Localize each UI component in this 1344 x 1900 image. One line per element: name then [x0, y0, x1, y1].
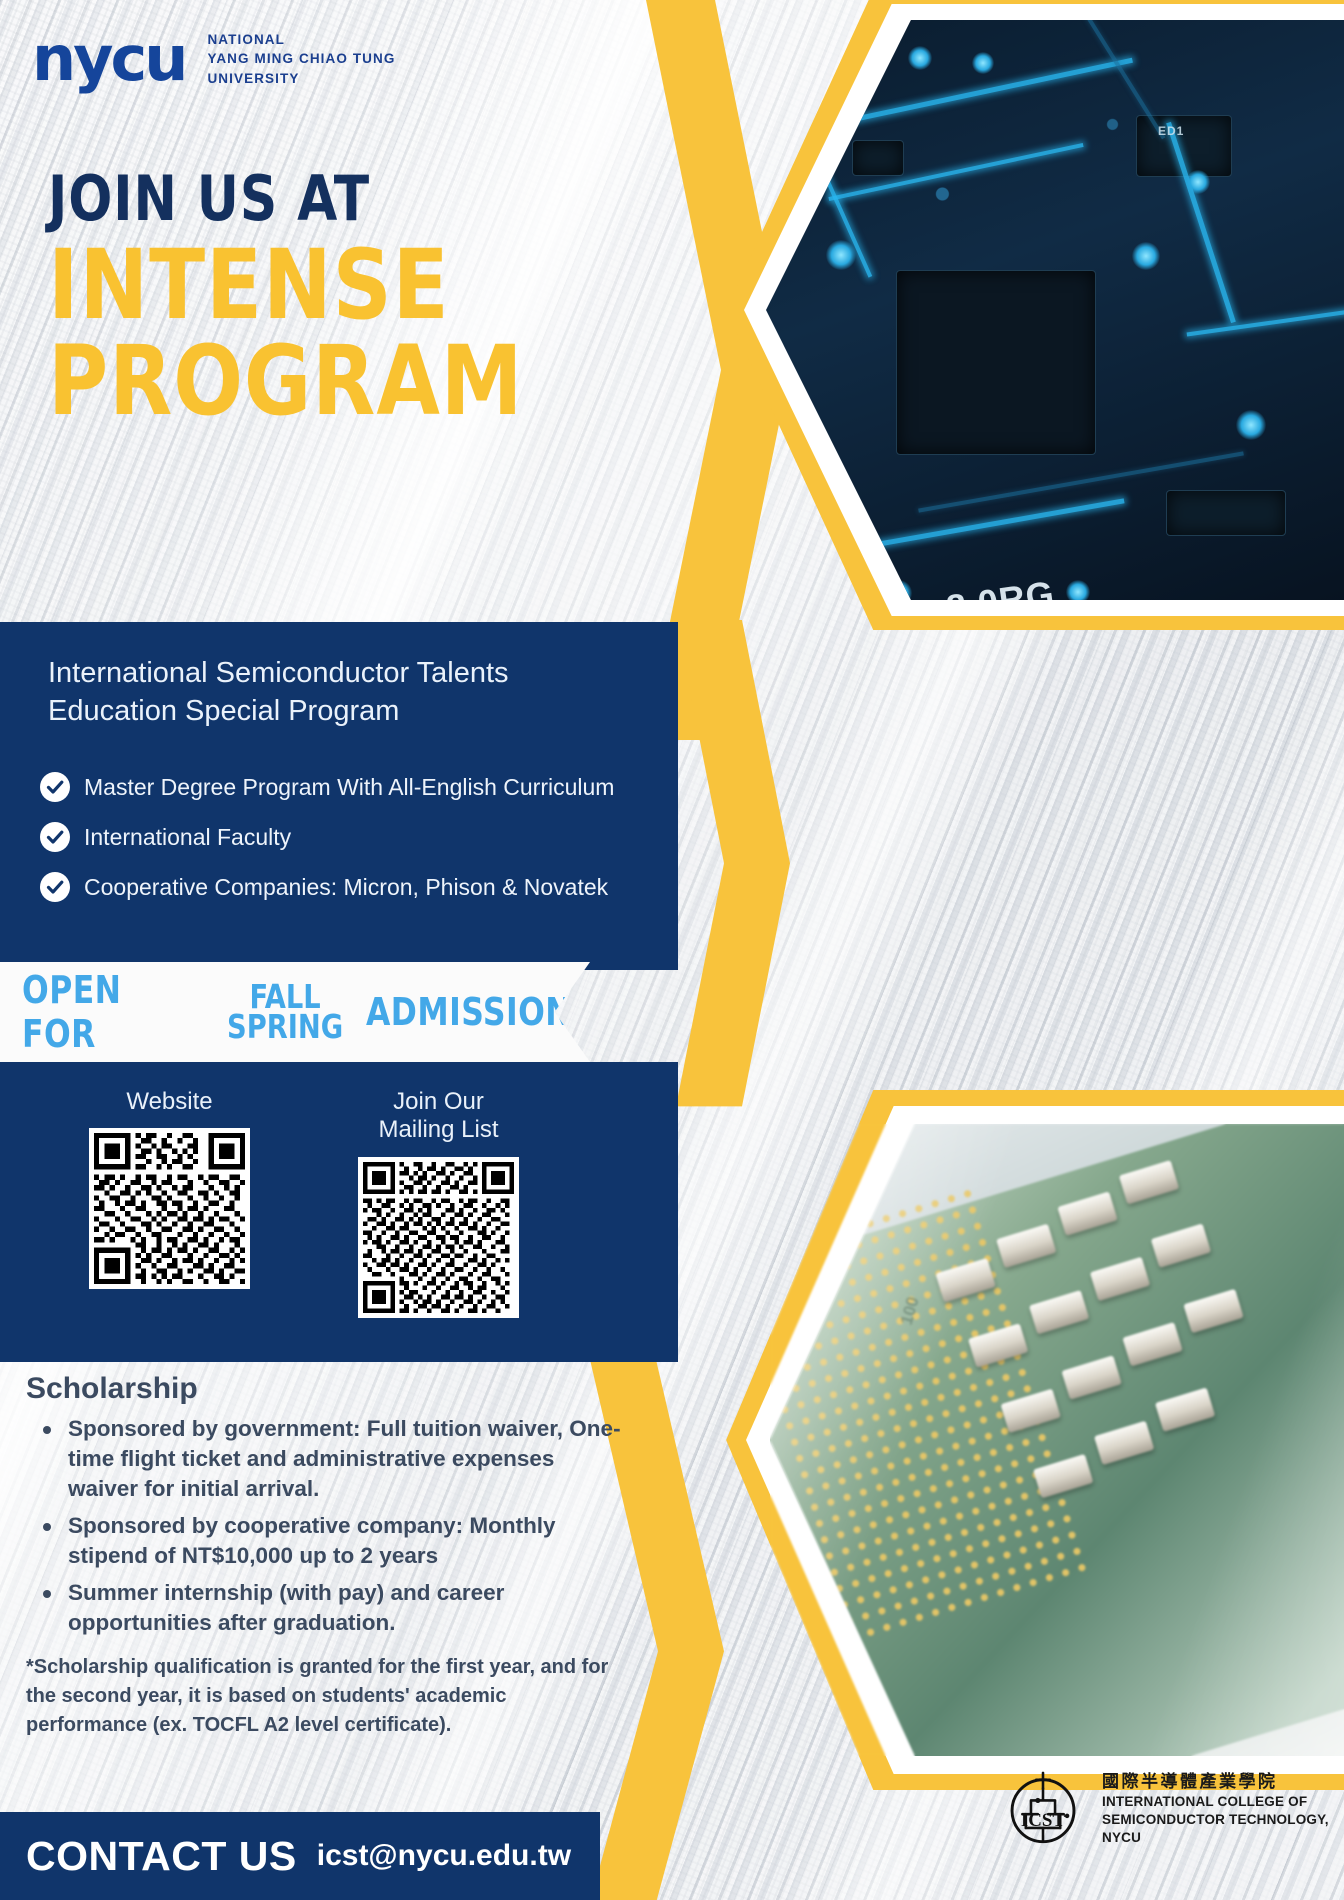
feature-label: Cooperative Companies: Micron, Phison & …	[84, 873, 608, 902]
nycu-wordmark: nycu	[32, 28, 185, 90]
pcb-pad	[972, 52, 994, 74]
admission-suffix: ADMISSION	[366, 990, 572, 1034]
list-item: Sponsored by government: Full tuition wa…	[26, 1414, 626, 1504]
svg-text:ICST: ICST	[1021, 1810, 1066, 1831]
pcb-pad	[908, 46, 932, 70]
qr-mailing-label-line-1: Join Our	[378, 1088, 498, 1116]
list-item: Cooperative Companies: Micron, Phison & …	[40, 872, 670, 902]
program-panel: International Semiconductor Talents Educ…	[0, 622, 678, 970]
list-item: Sponsored by cooperative company: Monthl…	[26, 1511, 626, 1571]
contact-email[interactable]: icst@nycu.edu.tw	[317, 1839, 571, 1873]
check-icon	[40, 822, 70, 852]
list-item: International Faculty	[40, 822, 670, 852]
pcb-main-chip	[896, 270, 1096, 455]
scholarship-section: Scholarship Sponsored by government: Ful…	[26, 1372, 626, 1740]
qr-website-image[interactable]	[89, 1128, 250, 1289]
pcb-pad	[1066, 580, 1090, 600]
qr-website-svg	[94, 1133, 245, 1284]
qr-mailing-svg	[363, 1162, 514, 1313]
admission-terms: FALL SPRING	[222, 982, 348, 1043]
qr-website-block[interactable]: Website	[72, 1088, 267, 1318]
university-name: NATIONAL YANG MING CHIAO TUNG UNIVERSITY	[207, 30, 395, 89]
check-icon	[40, 772, 70, 802]
poster-root: ED1 8.0RG	[0, 0, 1344, 1900]
qr-website-label-line: Website	[126, 1088, 212, 1116]
university-name-line-2: YANG MING CHIAO TUNG	[207, 49, 395, 69]
admission-banner: OPEN FOR FALL SPRING ADMISSION	[0, 962, 590, 1062]
icst-english-line-3: NYCU	[1102, 1830, 1329, 1846]
pcb-trace	[1187, 307, 1344, 336]
list-item: Master Degree Program With All-English C…	[40, 772, 670, 802]
icst-english-line-1: INTERNATIONAL COLLEGE OF	[1102, 1794, 1329, 1810]
check-icon	[40, 872, 70, 902]
pcb-chip-4	[1166, 490, 1286, 536]
qr-code-panel: Website	[0, 1062, 678, 1362]
university-name-line-1: NATIONAL	[207, 30, 395, 50]
icst-logo-text: 國際半導體產業學院 INTERNATIONAL COLLEGE OF SEMIC…	[1102, 1772, 1329, 1847]
admission-term-spring: SPRING	[227, 1012, 343, 1042]
university-logo: nycu NATIONAL YANG MING CHIAO TUNG UNIVE…	[32, 28, 395, 90]
scholarship-note: *Scholarship qualification is granted fo…	[26, 1653, 626, 1739]
contact-bar: CONTACT US icst@nycu.edu.tw	[0, 1812, 600, 1900]
admission-prefix: OPEN FOR	[22, 968, 189, 1056]
qr-website-label: Website	[126, 1088, 212, 1116]
page-title: JOIN US AT INTENSE PROGRAM	[48, 168, 608, 428]
qr-mailing-label-line-2: Mailing List	[378, 1116, 498, 1144]
pcb-pad	[1132, 242, 1160, 270]
pcb-pad	[1186, 170, 1210, 194]
icst-chinese-name: 國際半導體產業學院	[1102, 1772, 1329, 1792]
icst-college-logo: ICST 國際半導體產業學院 INTERNATIONAL COLLEGE OF …	[1000, 1766, 1329, 1852]
pcb-chip-label: ED1	[1158, 124, 1184, 138]
pcb-pad	[826, 240, 856, 270]
qr-mailing-list-block[interactable]: Join Our Mailing List	[341, 1088, 536, 1318]
pcb-trace	[1067, 20, 1166, 139]
feature-label: Master Degree Program With All-English C…	[84, 773, 614, 802]
qr-mailing-list-image[interactable]	[358, 1157, 519, 1318]
program-title: International Semiconductor Talents Educ…	[48, 654, 618, 731]
qr-mailing-list-label: Join Our Mailing List	[378, 1088, 498, 1145]
contact-label: CONTACT US	[26, 1833, 297, 1880]
university-name-line-3: UNIVERSITY	[207, 69, 395, 89]
pcb-chip-3	[852, 140, 904, 176]
headline-line-3: PROGRAM	[48, 334, 580, 428]
headline-line-1: JOIN US AT	[48, 168, 569, 230]
list-item: Summer internship (with pay) and career …	[26, 1578, 626, 1638]
pcb-pad	[1236, 410, 1266, 440]
scholarship-title: Scholarship	[26, 1372, 626, 1406]
pcb-trace	[877, 498, 1124, 546]
icst-english-line-2: SEMICONDUCTOR TECHNOLOGY,	[1102, 1812, 1329, 1828]
headline-line-2: INTENSE	[48, 238, 580, 332]
content-column: nycu NATIONAL YANG MING CHIAO TUNG UNIVE…	[0, 0, 700, 1900]
program-feature-list: Master Degree Program With All-English C…	[40, 772, 670, 922]
icst-emblem-icon: ICST	[1000, 1766, 1086, 1852]
pcb-board-caption: 8.0RG	[944, 573, 1058, 600]
scholarship-list: Sponsored by government: Full tuition wa…	[26, 1414, 626, 1637]
feature-label: International Faculty	[84, 823, 291, 852]
